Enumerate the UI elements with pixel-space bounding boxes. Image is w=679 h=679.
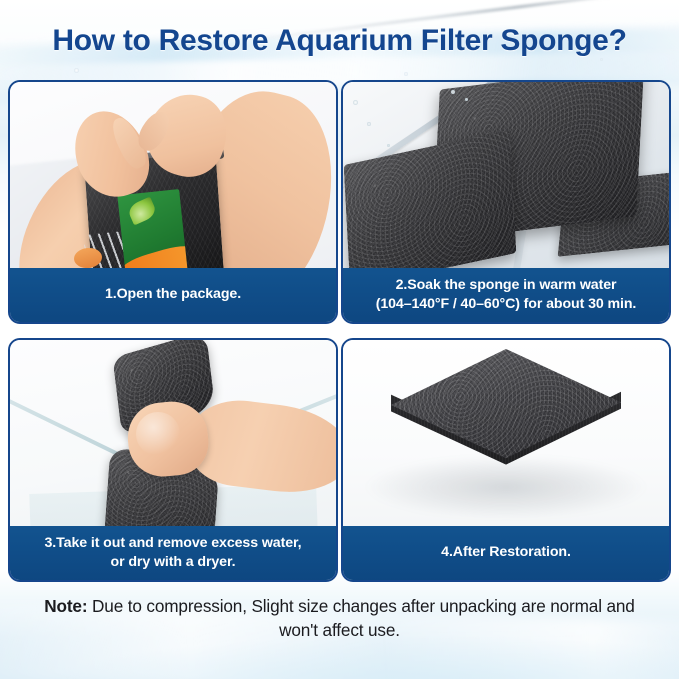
water-droplet	[465, 98, 468, 101]
water-droplet	[367, 122, 371, 126]
note-label: Note:	[44, 596, 87, 616]
bubble-icon	[600, 58, 603, 61]
infographic-page: How to Restore Aquarium Filter Sponge?	[0, 0, 679, 679]
caption-line: 3.Take it out and remove excess water,	[45, 534, 302, 552]
bubble-icon	[404, 72, 408, 76]
step-panel-3: 3.Take it out and remove excess water, o…	[8, 338, 338, 582]
leaf-icon	[126, 197, 158, 226]
step-panel-2: 2.Soak the sponge in warm water (104–140…	[341, 80, 671, 324]
step-2-caption: 2.Soak the sponge in warm water (104–140…	[343, 268, 669, 322]
caption-line: (104–140°F / 40–60°C) for about 30 min.	[376, 295, 637, 313]
package-label	[117, 189, 188, 268]
step-1-photo	[10, 82, 336, 268]
caption-line: 4.After Restoration.	[441, 543, 571, 561]
pad-top-face	[391, 349, 621, 489]
step-1-caption: 1.Open the package.	[10, 268, 336, 322]
caption-line: or dry with a dryer.	[45, 553, 302, 571]
step-2-photo	[343, 82, 669, 268]
step-3-caption: 3.Take it out and remove excess water, o…	[10, 526, 336, 580]
step-panel-1: 1.Open the package.	[8, 80, 338, 324]
water-droplet	[451, 90, 455, 94]
water-droplet	[353, 100, 358, 105]
water-droplet	[387, 144, 390, 147]
note-text: Due to compression, Slight size changes …	[87, 596, 634, 640]
step-3-photo	[10, 340, 336, 526]
page-title: How to Restore Aquarium Filter Sponge?	[0, 24, 679, 58]
knuckle-highlight	[136, 412, 180, 456]
step-panel-4: 4.After Restoration.	[341, 338, 671, 582]
caption-line: 1.Open the package.	[105, 285, 241, 303]
step-4-caption: 4.After Restoration.	[343, 526, 669, 580]
step-4-photo	[343, 340, 669, 526]
label-orange-stripe	[117, 241, 188, 268]
footer-note: Note: Due to compression, Slight size ch…	[0, 594, 679, 643]
bubble-icon	[74, 68, 79, 73]
restored-sponge-pad	[391, 349, 621, 517]
caption-line: 2.Soak the sponge in warm water	[376, 276, 637, 294]
steps-grid: 1.Open the package. 2.Soak th	[8, 80, 671, 582]
